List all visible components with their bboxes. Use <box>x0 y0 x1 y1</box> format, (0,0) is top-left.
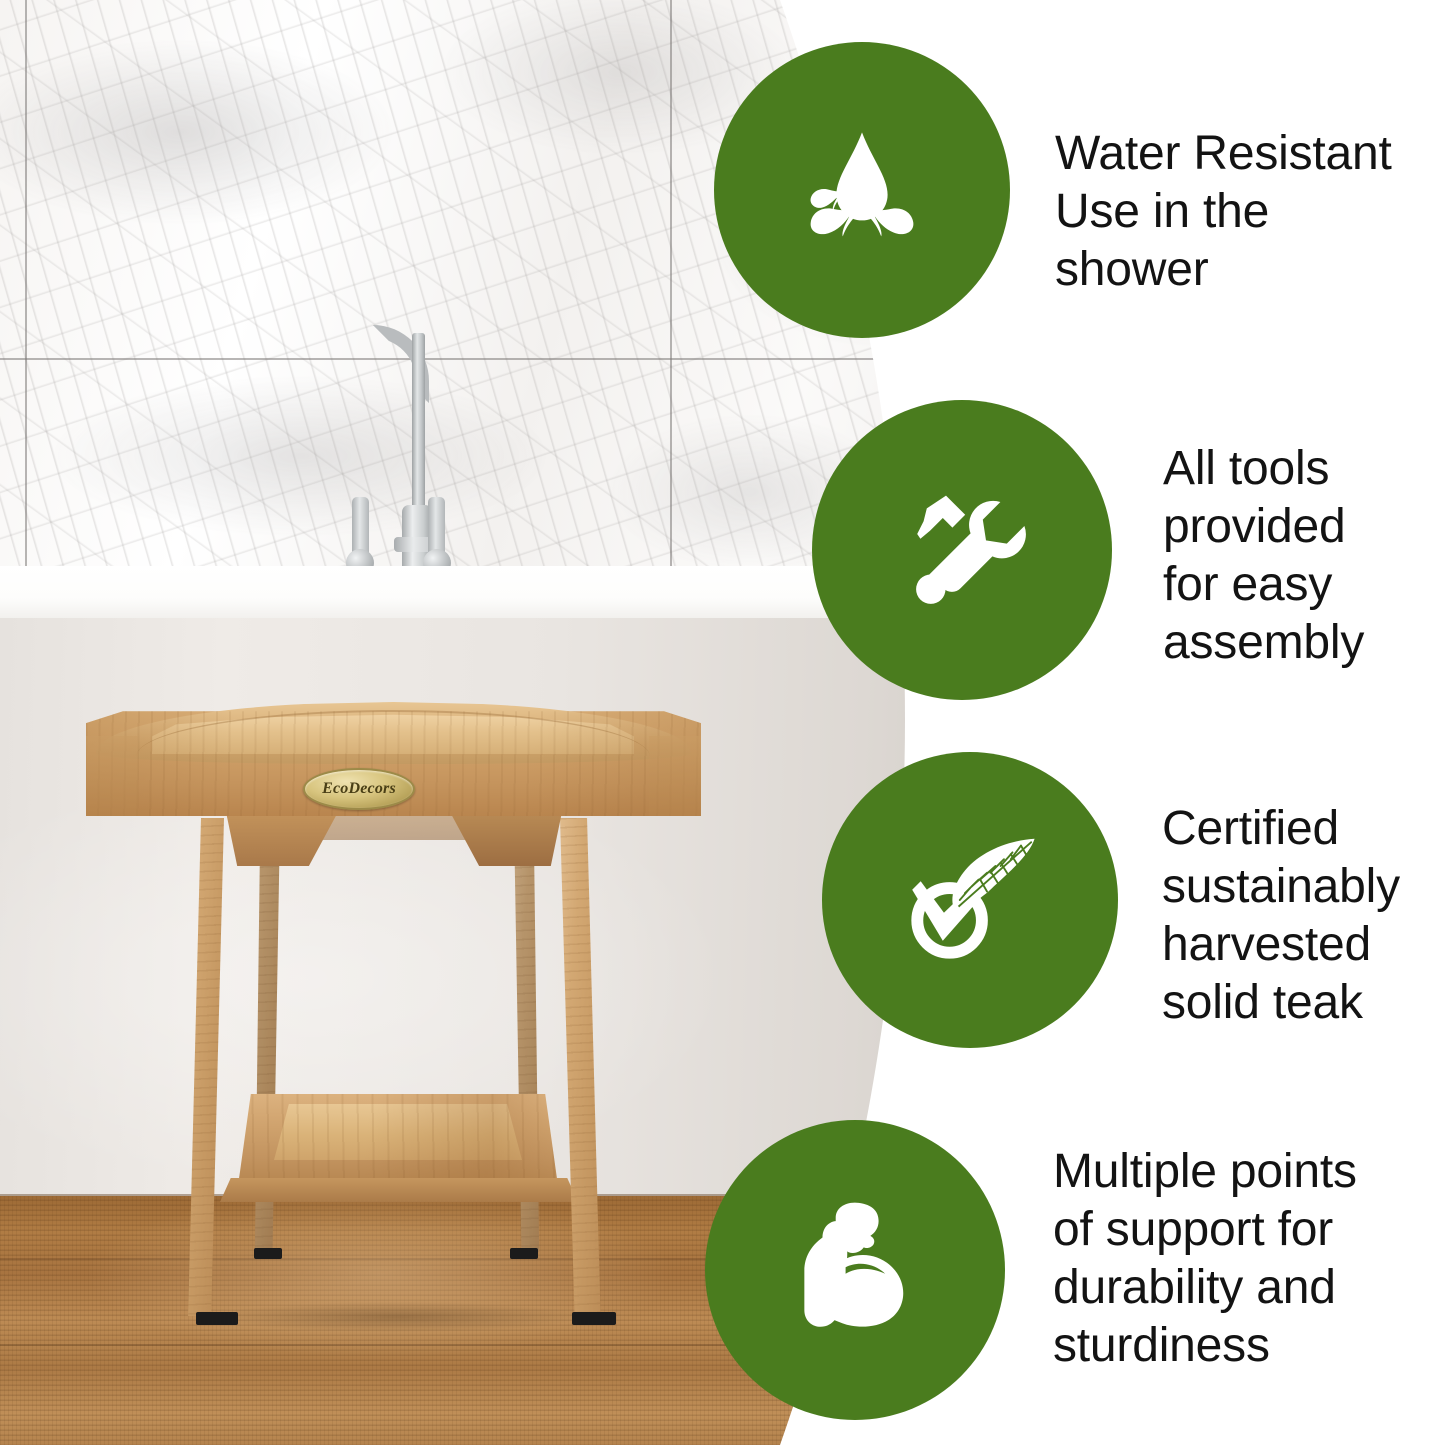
stool-leg-front-left <box>178 818 224 1316</box>
tile-grout-line-horizontal <box>0 358 1000 360</box>
stool-apron-left <box>226 812 338 866</box>
product-photo: EcoDecors <box>0 0 1445 1445</box>
stool-foot-back-left <box>254 1248 282 1259</box>
hammer-wrench-icon <box>882 470 1042 630</box>
stool-leg-front-right <box>560 818 612 1316</box>
feature-text-multiple-support: Multiple points of support for durabilit… <box>1053 1143 1445 1375</box>
chrome-faucet <box>330 325 470 585</box>
teak-shower-bench: EcoDecors <box>78 700 708 1320</box>
feature-text-tools-provided: All tools provided for easy assembly <box>1163 440 1443 672</box>
marble-tile-wall <box>0 0 1000 600</box>
bathtub-rim <box>0 566 1000 624</box>
infographic-canvas: EcoDecors Water Resistant Use in the sho… <box>0 0 1445 1445</box>
stool-seat-edge-left <box>86 736 138 816</box>
marble-veining <box>0 0 1000 600</box>
brand-plaque: EcoDecors <box>303 768 415 810</box>
stool-apron-right <box>450 812 562 866</box>
feature-text-certified-teak: Certified sustainably harvested solid te… <box>1162 800 1444 1032</box>
stool-foot-front-right <box>572 1312 616 1325</box>
faucet-neck <box>412 333 425 511</box>
tile-grout-line-vertical-left <box>25 0 27 600</box>
stool-shelf-front-rail <box>220 1178 578 1202</box>
stool-foot-back-right <box>510 1248 538 1259</box>
feature-text-water-resistant: Water Resistant Use in the shower <box>1055 125 1425 299</box>
tile-grout-line-vertical-right <box>670 0 672 600</box>
stool-apron-middle <box>316 812 476 840</box>
leaf-checkmark-icon <box>885 815 1055 985</box>
stool-seat-edge-right <box>649 736 701 816</box>
stool-shelf-grain <box>238 1094 558 1186</box>
brand-plaque-label: EcoDecors <box>322 780 396 798</box>
stool-foot-front-left <box>196 1312 238 1325</box>
